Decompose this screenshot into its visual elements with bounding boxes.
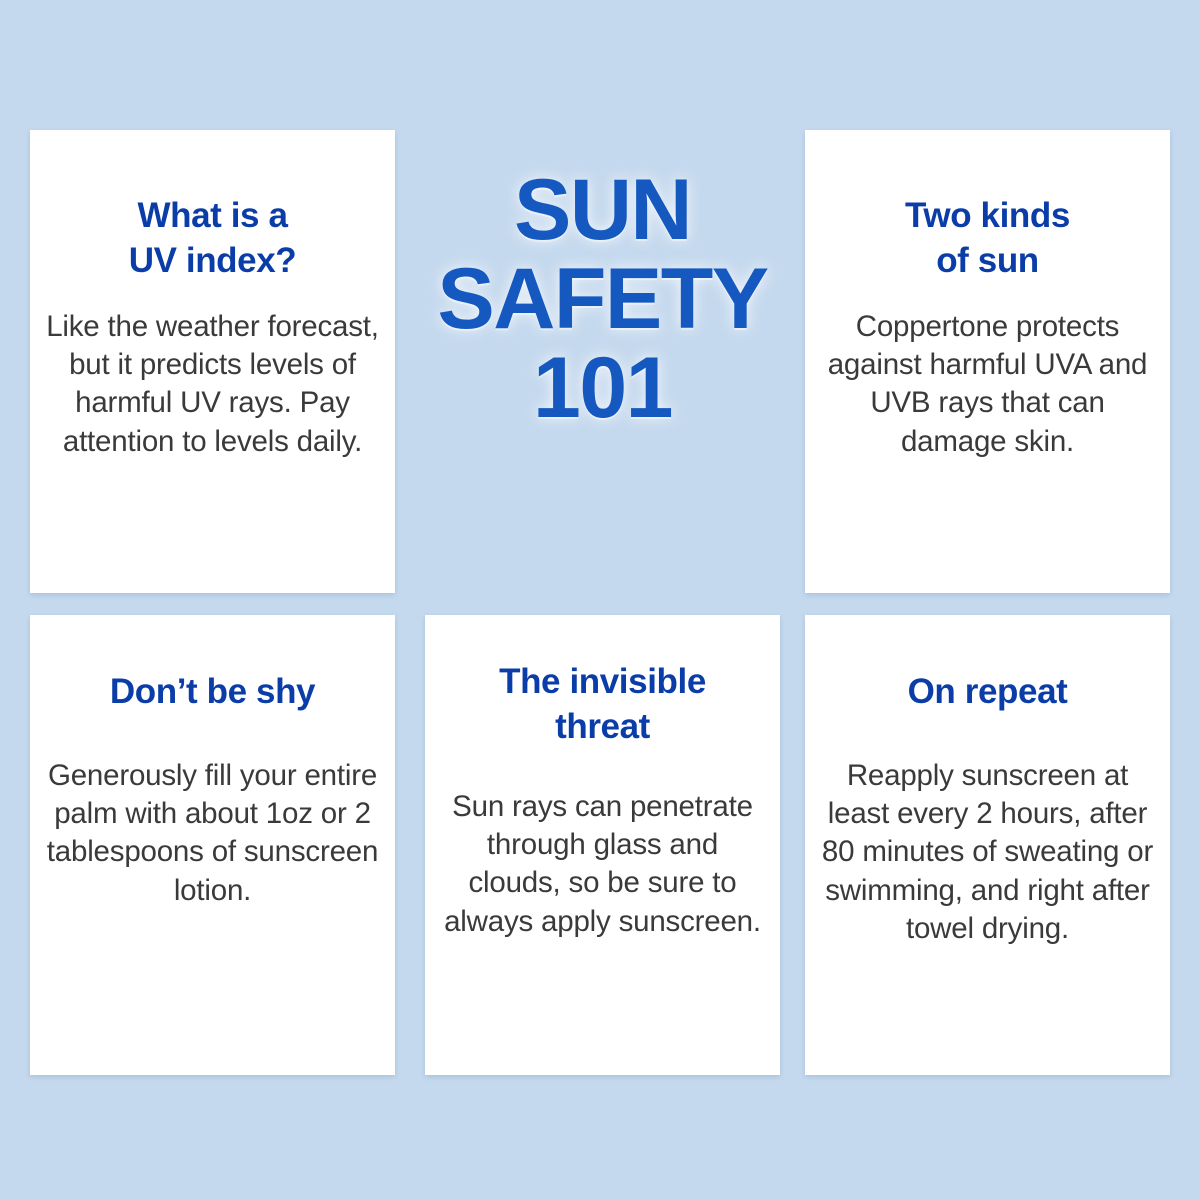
panel-uv-index-heading-line2: UV index?: [129, 241, 297, 280]
sun-safety-panel-grid: What is aUV index? Like the weather fore…: [30, 130, 1170, 1075]
panel-dont-be-shy-body: Generously fill your entire palm with ab…: [30, 757, 395, 910]
panel-dont-be-shy-heading: Don’t be shy: [94, 670, 331, 715]
panel-uv-index-heading-line1: What is a: [137, 196, 287, 235]
panel-two-kinds-of-sun-body: Coppertone protects against harmful UVA …: [805, 308, 1170, 461]
panel-dont-be-shy: Don’t be shy Generously fill your entire…: [30, 615, 395, 1075]
panel-invisible-threat-heading: The invisiblethreat: [483, 660, 722, 750]
panel-two-kinds-of-sun: Two kindsof sun Coppertone protects agai…: [805, 130, 1170, 593]
hero-title-cell: SUN SAFETY 101: [425, 130, 780, 593]
panel-two-kinds-of-sun-heading-line2: of sun: [936, 241, 1039, 280]
panel-on-repeat: On repeat Reapply sunscreen at least eve…: [805, 615, 1170, 1075]
hero-title-line2: SAFETY: [437, 257, 767, 342]
panel-invisible-threat: The invisiblethreat Sun rays can penetra…: [425, 615, 780, 1075]
panel-two-kinds-of-sun-heading-line1: Two kinds: [905, 196, 1070, 235]
panel-invisible-threat-heading-line2: threat: [555, 707, 650, 746]
panel-invisible-threat-heading-line1: The invisible: [499, 662, 706, 701]
hero-title: SUN SAFETY 101: [437, 168, 767, 431]
hero-title-line1: SUN: [437, 168, 767, 253]
panel-uv-index: What is aUV index? Like the weather fore…: [30, 130, 395, 593]
panel-two-kinds-of-sun-heading: Two kindsof sun: [889, 194, 1086, 284]
panel-on-repeat-body: Reapply sunscreen at least every 2 hours…: [805, 757, 1170, 949]
panel-on-repeat-heading: On repeat: [892, 670, 1084, 715]
panel-uv-index-body: Like the weather forecast, but it predic…: [30, 308, 395, 461]
panel-uv-index-heading: What is aUV index?: [113, 194, 313, 284]
hero-title-line3: 101: [437, 346, 767, 431]
panel-invisible-threat-body: Sun rays can penetrate through glass and…: [425, 788, 780, 941]
